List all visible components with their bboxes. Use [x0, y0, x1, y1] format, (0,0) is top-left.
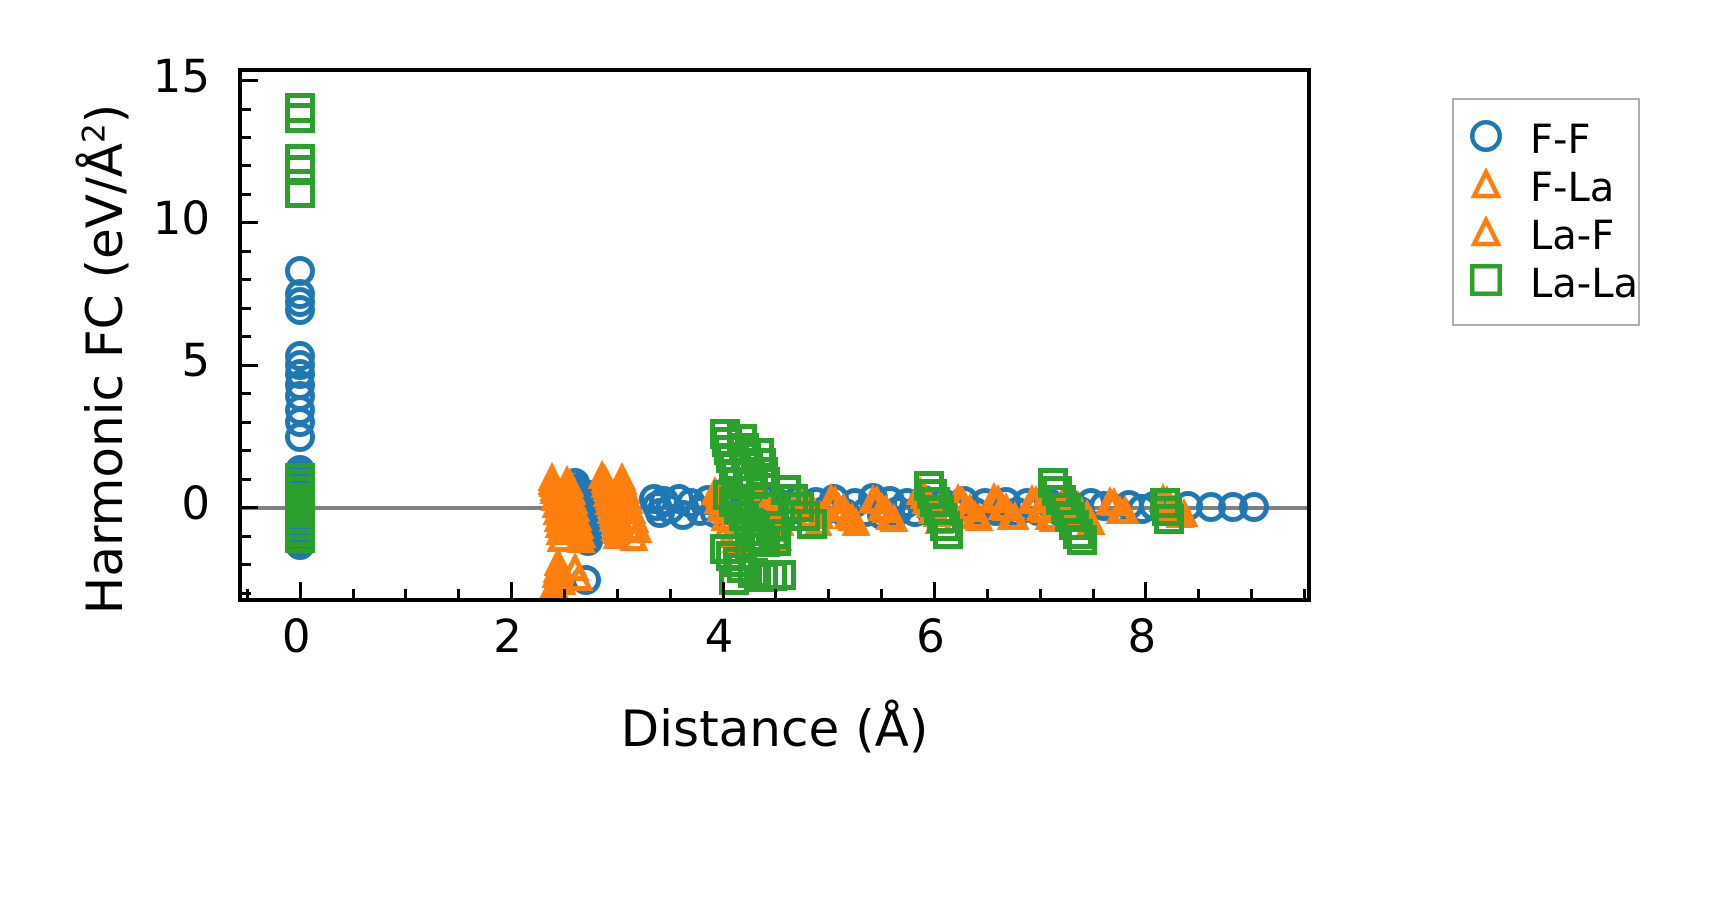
data-point-la-la	[933, 519, 963, 549]
x-tick-minor	[827, 589, 830, 598]
data-point-f-f	[285, 295, 315, 325]
x-tick-minor	[1250, 589, 1253, 598]
x-tick-minor	[1303, 589, 1306, 598]
y-tick-major	[242, 221, 258, 224]
x-tick-label: 6	[870, 614, 990, 659]
y-tick-minor	[242, 421, 251, 424]
legend-label: La-F	[1514, 216, 1614, 256]
x-tick-minor	[986, 589, 989, 598]
y-tick-minor	[242, 250, 251, 253]
y-tick-minor	[242, 592, 251, 595]
legend-marker-circle-icon	[1470, 120, 1514, 160]
legend-item-la-la[interactable]: La-La	[1470, 260, 1630, 308]
y-axis-label-tail: )	[76, 104, 134, 124]
x-tick-label: 2	[448, 614, 568, 659]
x-tick-minor	[1092, 589, 1095, 598]
y-tick-label: 15	[0, 54, 210, 99]
data-point-la-la	[1067, 525, 1097, 555]
x-tick-label: 0	[236, 614, 356, 659]
legend-marker-triangle-icon	[1470, 216, 1514, 256]
x-tick-major	[722, 582, 725, 598]
data-point-la-la	[285, 103, 315, 133]
y-tick-minor	[242, 535, 251, 538]
data-point-la-f	[623, 515, 653, 545]
data-point-f-f	[1239, 492, 1269, 522]
scatter-data-layer	[242, 72, 1307, 598]
y-tick-label: 0	[0, 481, 210, 526]
x-axis-label: Distance (Å)	[238, 700, 1311, 758]
y-tick-minor	[242, 335, 251, 338]
y-tick-minor	[242, 449, 251, 452]
y-tick-minor	[242, 278, 251, 281]
y-tick-minor	[242, 563, 251, 566]
x-tick-major	[510, 582, 513, 598]
x-tick-minor	[1039, 589, 1042, 598]
x-tick-label: 8	[1082, 614, 1202, 659]
legend-item-f-f[interactable]: F-F	[1470, 116, 1630, 164]
x-tick-minor	[563, 589, 566, 598]
data-point-la-la	[766, 560, 796, 590]
y-tick-minor	[242, 392, 251, 395]
y-tick-major	[242, 364, 258, 367]
y-tick-minor	[242, 164, 251, 167]
x-tick-minor	[616, 589, 619, 598]
y-tick-minor	[242, 136, 251, 139]
x-tick-major	[1144, 582, 1147, 598]
legend-item-f-la[interactable]: F-La	[1470, 164, 1630, 212]
x-tick-minor	[404, 589, 407, 598]
legend-label: F-La	[1514, 168, 1614, 208]
legend-box: F-FF-LaLa-FLa-La	[1452, 98, 1640, 326]
legend-marker-triangle-icon	[1470, 168, 1514, 208]
y-tick-minor	[242, 108, 251, 111]
data-point-la-la	[285, 178, 315, 208]
data-point-la-la	[761, 526, 791, 556]
y-tick-major	[242, 79, 258, 82]
x-tick-label: 4	[659, 614, 779, 659]
x-tick-minor	[457, 589, 460, 598]
x-tick-major	[299, 582, 302, 598]
y-tick-major	[242, 506, 258, 509]
legend-marker-square-icon	[1470, 264, 1514, 304]
plot-area	[238, 68, 1311, 602]
x-tick-major	[933, 582, 936, 598]
data-point-la-la	[1154, 504, 1184, 534]
data-point-la-f	[567, 520, 597, 550]
y-tick-label: 5	[0, 338, 210, 383]
x-tick-minor	[774, 589, 777, 598]
data-point-f-f	[285, 422, 315, 452]
x-tick-minor	[352, 589, 355, 598]
x-tick-minor	[880, 589, 883, 598]
legend-label: La-La	[1514, 264, 1638, 304]
y-tick-label: 10	[0, 196, 210, 241]
y-axis-label-exponent: 2	[76, 123, 112, 143]
y-tick-minor	[242, 307, 251, 310]
y-tick-minor	[242, 478, 251, 481]
y-tick-minor	[242, 193, 251, 196]
legend-item-la-f[interactable]: La-F	[1470, 212, 1630, 260]
x-tick-minor	[1197, 589, 1200, 598]
figure-canvas: Harmonic FC (eV/Å2) 051015 02468 Distanc…	[0, 0, 1710, 905]
legend-label: F-F	[1514, 120, 1590, 160]
data-point-la-la	[797, 509, 827, 539]
data-point-la-f	[1110, 496, 1140, 526]
x-tick-minor	[669, 589, 672, 598]
data-point-la-la	[285, 523, 315, 553]
data-point-la-f	[879, 504, 909, 534]
